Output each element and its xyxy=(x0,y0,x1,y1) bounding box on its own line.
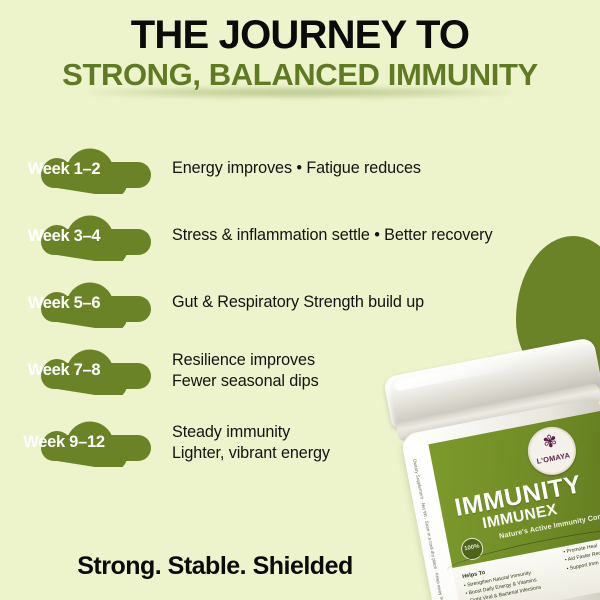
timeline-text-1: Energy improves • Fatigue reduces xyxy=(172,158,421,179)
timeline-text-4: Resilience improves Fewer seasonal dips xyxy=(172,350,319,393)
timeline-text-3-line1: Gut & Respiratory Strength build up xyxy=(172,292,424,313)
week-badge-label-5: Week 9–12 xyxy=(0,433,128,452)
timeline-text-3: Gut & Respiratory Strength build up xyxy=(172,292,424,313)
timeline-text-5-line2: Lighter, vibrant energy xyxy=(172,443,330,464)
week-badge-label-2: Week 3–4 xyxy=(0,227,128,246)
poster-header: THE JOURNEY TO STRONG, BALANCED IMMUNITY xyxy=(0,0,600,93)
page-title-line1: THE JOURNEY TO xyxy=(0,0,600,56)
timeline-row: Week 3–4 Stress & inflammation settle • … xyxy=(0,199,600,266)
timeline-text-5: Steady immunity Lighter, vibrant energy xyxy=(172,422,330,465)
timeline-row: Week 1–2 Energy improves • Fatigue reduc… xyxy=(0,132,600,199)
timeline-row: Week 5–6 Gut & Respiratory Strength buil… xyxy=(0,266,600,333)
timeline-text-4-line1: Resilience improves xyxy=(172,350,319,371)
timeline-text-4-line2: Fewer seasonal dips xyxy=(172,371,319,392)
immunity-journey-poster: THE JOURNEY TO STRONG, BALANCED IMMUNITY… xyxy=(0,0,600,600)
timeline-text-2: Stress & inflammation settle • Better re… xyxy=(172,225,492,246)
timeline-text-1-line1: Energy improves • Fatigue reduces xyxy=(172,158,421,179)
timeline-text-2-line1: Stress & inflammation settle • Better re… xyxy=(172,225,492,246)
page-title-subwrap: STRONG, BALANCED IMMUNITY xyxy=(0,58,600,93)
timeline-text-5-line1: Steady immunity xyxy=(172,422,330,443)
page-title-line2: STRONG, BALANCED IMMUNITY xyxy=(0,58,600,93)
footer-tagline: Strong. Stable. Shielded xyxy=(0,552,430,581)
week-badge-label-1: Week 1–2 xyxy=(0,160,128,179)
week-badge-label-4: Week 7–8 xyxy=(0,361,128,380)
week-badge-label-3: Week 5–6 xyxy=(0,294,128,313)
